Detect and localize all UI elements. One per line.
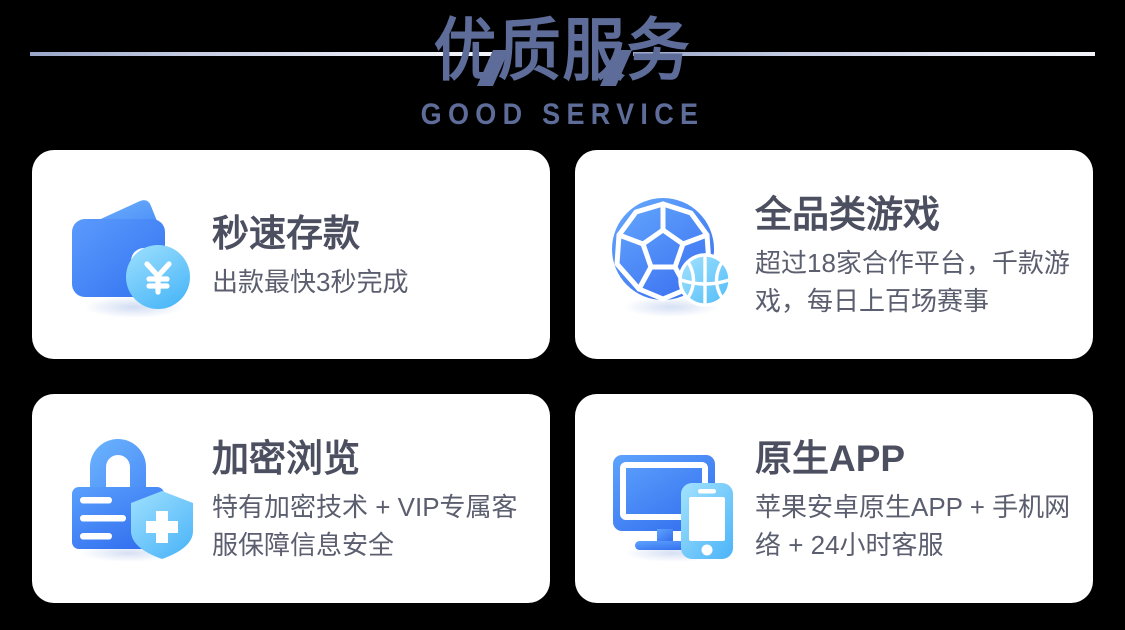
card-description: 特有加密技术 + VIP专属客服保障信息安全 [212, 488, 528, 564]
card-heading: 原生APP [755, 436, 1071, 482]
service-card-encrypted-browsing[interactable]: 加密浏览 特有加密技术 + VIP专属客服保障信息安全 [32, 394, 550, 603]
lock-shield-icon [62, 429, 202, 569]
page-header: 优质服务 GOOD SERVICE [0, 0, 1125, 145]
card-text-block: 加密浏览 特有加密技术 + VIP专属客服保障信息安全 [212, 434, 528, 564]
card-heading: 加密浏览 [212, 436, 528, 482]
card-heading: 秒速存款 [212, 211, 528, 257]
card-heading: 全品类游戏 [755, 192, 1071, 238]
card-description: 苹果安卓原生APP + 手机网络 + 24小时客服 [755, 488, 1071, 564]
card-description: 超过18家合作平台，千款游戏，每日上百场赛事 [755, 244, 1071, 320]
card-text-block: 原生APP 苹果安卓原生APP + 手机网络 + 24小时客服 [755, 434, 1071, 564]
monitor-phone-icon [605, 429, 745, 569]
card-text-block: 全品类游戏 超过18家合作平台，千款游戏，每日上百场赛事 [755, 190, 1071, 320]
good-service-banner: 优质服务 GOOD SERVICE [0, 0, 1125, 630]
service-card-native-app[interactable]: 原生APP 苹果安卓原生APP + 手机网络 + 24小时客服 [575, 394, 1093, 603]
page-title: 优质服务 [45, 8, 1080, 94]
card-description: 出款最快3秒完成 [212, 263, 528, 301]
service-card-instant-deposit[interactable]: 秒速存款 出款最快3秒完成 [32, 150, 550, 359]
card-text-block: 秒速存款 出款最快3秒完成 [212, 209, 528, 301]
soccer-basketball-icon [605, 185, 745, 325]
page-subtitle: GOOD SERVICE [56, 97, 1069, 133]
service-card-all-category-games[interactable]: 全品类游戏 超过18家合作平台，千款游戏，每日上百场赛事 [575, 150, 1093, 359]
wallet-yen-icon [62, 185, 202, 325]
service-card-grid: 秒速存款 出款最快3秒完成 [32, 150, 1093, 603]
